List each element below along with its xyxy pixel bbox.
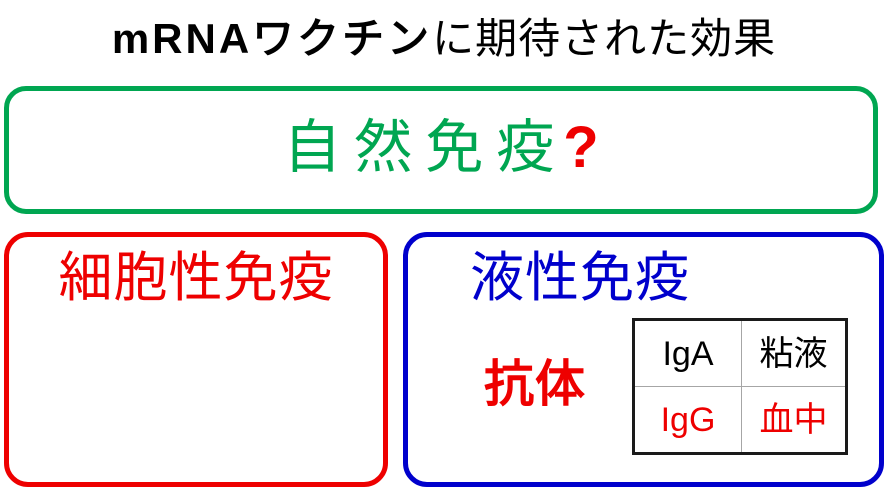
antibody-table-body: IgA 粘液 IgG 血中 xyxy=(634,320,847,454)
page-title: mRNAワクチンに期待された効果 xyxy=(0,12,888,66)
innate-immunity-text-group: 自然免疫? xyxy=(9,111,873,200)
innate-immunity-box: 自然免疫? xyxy=(4,86,878,214)
antibody-label: 抗体 xyxy=(484,355,586,413)
table-cell-location: 血中 xyxy=(742,387,847,454)
page-title-emphasis: mRNAワクチン xyxy=(112,15,432,62)
humoral-immunity-label: 液性免疫 xyxy=(470,247,690,309)
cellular-immunity-box: 細胞性免疫 xyxy=(4,232,388,487)
page-title-rest: に期待された効果 xyxy=(432,15,776,62)
table-row: IgA 粘液 xyxy=(634,320,847,387)
table-row: IgG 血中 xyxy=(634,387,847,454)
table-cell-antibody: IgG xyxy=(634,387,742,454)
innate-immunity-question-mark: ? xyxy=(563,115,598,180)
antibody-location-table: IgA 粘液 IgG 血中 xyxy=(632,318,848,455)
innate-immunity-label: 自然免疫 xyxy=(283,115,567,180)
table-cell-location: 粘液 xyxy=(742,320,847,387)
table-cell-antibody: IgA xyxy=(634,320,742,387)
slide-root: mRNAワクチンに期待された効果 自然免疫? 細胞性免疫 液性免疫 抗体 IgA… xyxy=(0,0,888,491)
humoral-immunity-box: 液性免疫 抗体 IgA 粘液 IgG 血中 xyxy=(403,232,884,487)
cellular-immunity-label: 細胞性免疫 xyxy=(9,247,383,309)
